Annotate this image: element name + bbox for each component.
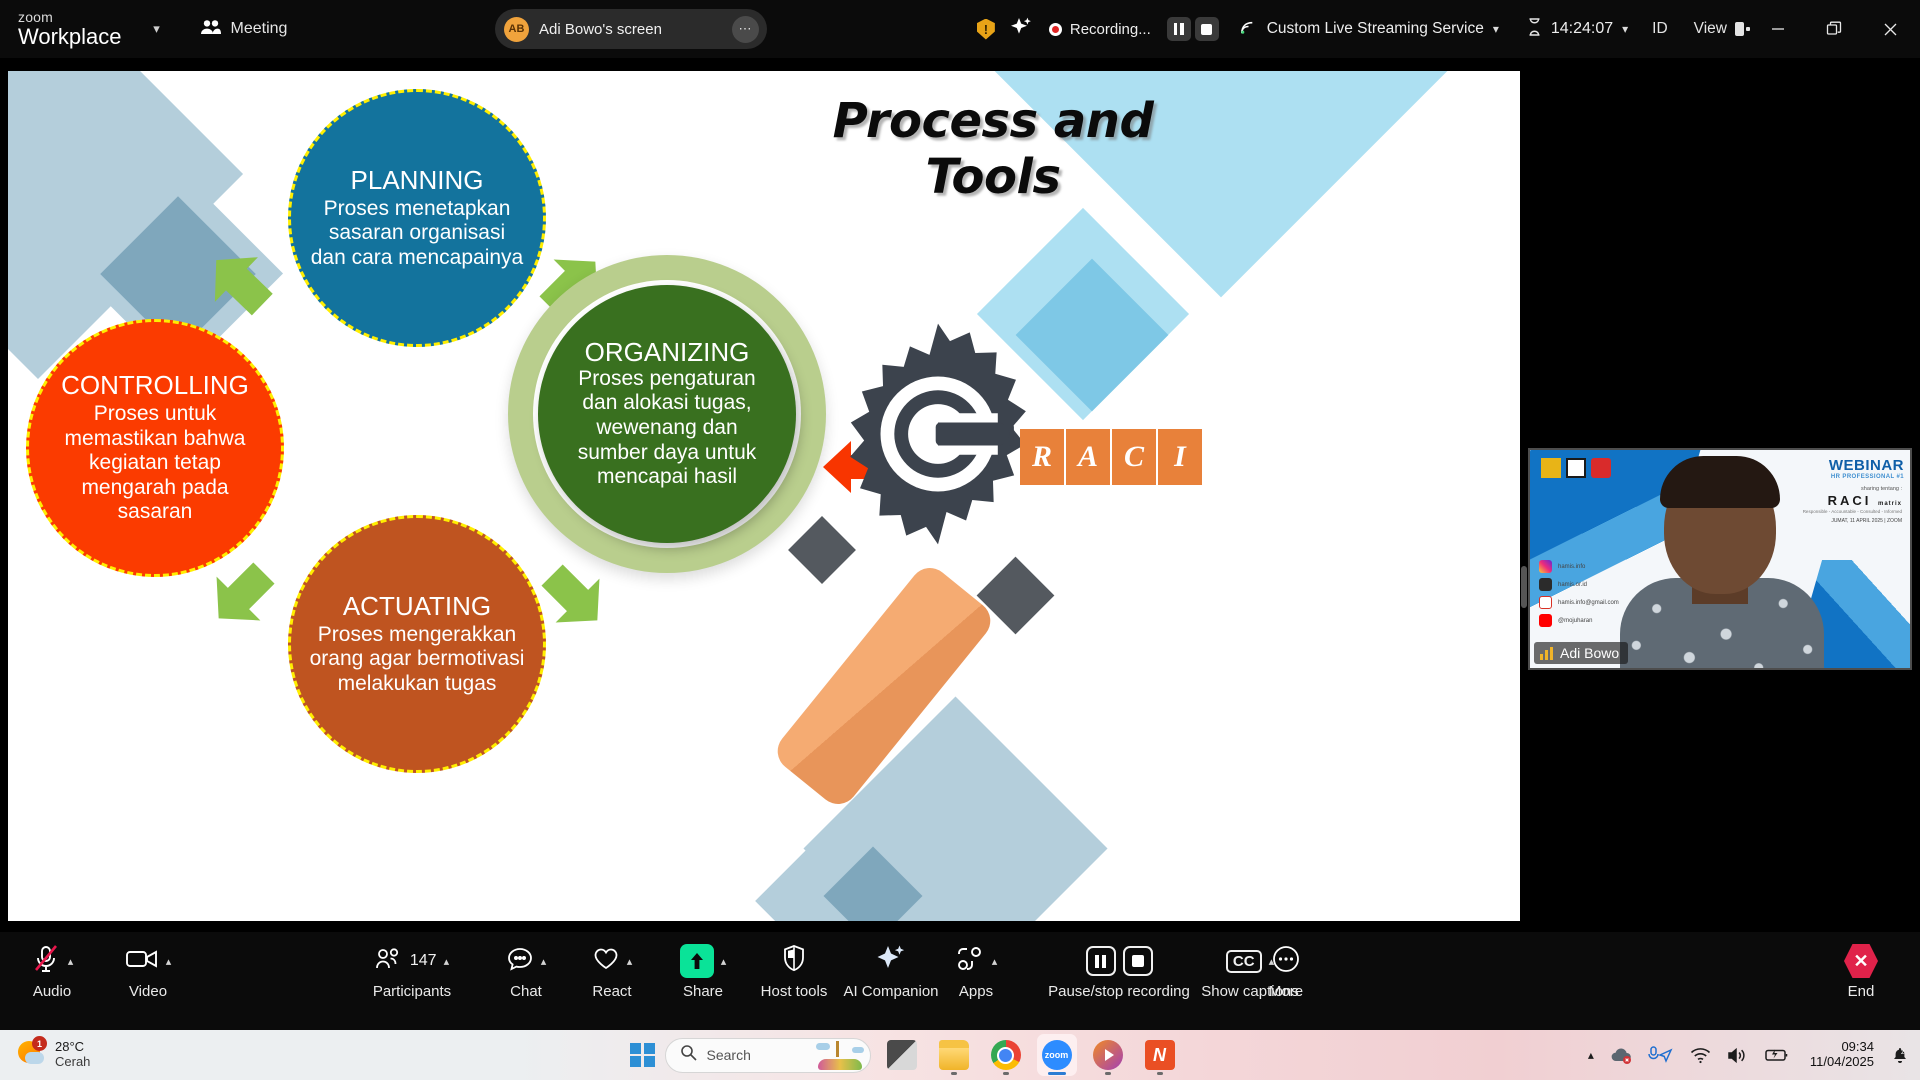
participants-count: 147 xyxy=(410,952,437,970)
microphone-location-icon[interactable] xyxy=(1648,1046,1674,1064)
search-placeholder: Search xyxy=(707,1047,806,1063)
chevron-up-icon[interactable]: ▴ xyxy=(992,955,998,968)
chevron-up-icon[interactable]: ▴ xyxy=(444,955,450,968)
toolbar-apps-button[interactable]: ▴ Apps xyxy=(930,940,1022,1000)
circle-heading: ORGANIZING xyxy=(585,338,750,367)
people-icon xyxy=(375,947,403,976)
scrollbar-handle[interactable] xyxy=(1521,566,1527,608)
zoom-bottom-toolbar: ▴ Audio ▴ Video 147 ▴ Participants xyxy=(0,932,1920,1030)
media-player-icon xyxy=(1093,1040,1123,1070)
weather-temperature: 28°C xyxy=(55,1040,90,1055)
stop-recording-button[interactable] xyxy=(1195,17,1219,41)
chevron-down-icon[interactable]: ▾ xyxy=(144,16,170,42)
toolbar-host-tools-button[interactable]: Host tools xyxy=(748,940,840,1000)
meeting-id-button[interactable]: ID xyxy=(1652,20,1668,38)
windows-start-icon[interactable] xyxy=(630,1043,655,1068)
live-stream-icon xyxy=(1239,17,1258,41)
battery-charging-icon[interactable] xyxy=(1764,1047,1790,1063)
chevron-up-icon[interactable]: ▴ xyxy=(1588,1048,1594,1062)
svg-text:z: z xyxy=(1901,1049,1905,1056)
chevron-down-icon[interactable]: ▾ xyxy=(1493,22,1499,36)
active-indicator xyxy=(1048,1072,1066,1076)
ellipsis-icon[interactable]: ⋯ xyxy=(732,16,759,43)
recording-status: Recording... xyxy=(1049,21,1151,38)
restore-icon[interactable] xyxy=(1806,0,1862,58)
heart-icon xyxy=(592,946,620,977)
toolbar-label: Share xyxy=(683,983,723,1000)
toolbar-chat-button[interactable]: ▴ Chat xyxy=(480,940,572,1000)
toolbar-label: More xyxy=(1269,983,1303,1000)
share-screen-icon xyxy=(680,944,714,978)
weather-condition: Cerah xyxy=(55,1055,90,1070)
taskbar-app-task-view[interactable] xyxy=(881,1034,923,1076)
raci-letter: C xyxy=(1112,429,1156,485)
search-input[interactable]: Search xyxy=(665,1038,871,1073)
notification-bell-dnd-icon[interactable]: z xyxy=(1890,1045,1910,1065)
circle-body: Proses pengaturan dan alokasi tugas, wew… xyxy=(562,367,772,490)
live-streaming-status[interactable]: Custom Live Streaming Service ▾ xyxy=(1239,17,1499,41)
participant-video-tile[interactable]: WEBINAR HR PROFESSIONAL #1 sharing tenta… xyxy=(1528,448,1912,670)
chevron-up-icon[interactable]: ▴ xyxy=(166,955,172,968)
zoom-icon: zoom xyxy=(1042,1040,1072,1070)
shared-screen-pill[interactable]: AB Adi Bowo's screen ⋯ xyxy=(495,9,767,49)
system-tray: ▴ xyxy=(1588,1030,1910,1080)
taskbar-app-nitro[interactable]: N xyxy=(1139,1034,1181,1076)
nitro-pdf-icon: N xyxy=(1145,1040,1175,1070)
end-call-icon: ✕ xyxy=(1844,944,1878,978)
view-button-label: View xyxy=(1694,20,1727,38)
circle-body: Proses untuk memastikan bahwa kegiatan t… xyxy=(47,402,263,525)
diagram-circle-planning: PLANNING Proses menetapkan sasaran organ… xyxy=(288,89,546,347)
shared-screen-stage: Process and Tools PLANNING Proses menet xyxy=(0,58,1920,932)
notification-badge: 1 xyxy=(32,1036,47,1051)
meeting-tab[interactable]: Meeting xyxy=(200,19,288,40)
security-shield-icon[interactable]: ! xyxy=(977,19,995,40)
people-icon xyxy=(200,19,222,40)
taskbar-app-explorer[interactable] xyxy=(933,1034,975,1076)
raci-letter: A xyxy=(1066,429,1110,485)
toolbar-label: Apps xyxy=(959,983,993,1000)
task-view-icon xyxy=(887,1040,917,1070)
top-bar-right-cluster: ! Recording... Custom Live Stream xyxy=(977,0,1920,58)
meeting-timer-value: 14:24:07 xyxy=(1551,20,1613,38)
live-stream-label: Custom Live Streaming Service xyxy=(1267,20,1484,38)
sun-cloud-icon: 1 xyxy=(18,1041,46,1069)
video-tile-border xyxy=(1528,448,1912,670)
circle-heading: PLANNING xyxy=(351,166,484,195)
chrome-icon xyxy=(991,1040,1021,1070)
chevron-up-icon[interactable]: ▴ xyxy=(721,955,727,968)
stop-icon xyxy=(1201,24,1212,35)
zoom-brand-line2: Workplace xyxy=(18,25,122,48)
search-icon xyxy=(680,1044,697,1066)
page-title: Process and Tools xyxy=(768,93,1218,205)
toolbar-label: Video xyxy=(129,983,167,1000)
chevron-up-icon[interactable]: ▴ xyxy=(627,955,633,968)
clock-date: 11/04/2025 xyxy=(1810,1055,1874,1070)
windows-taskbar: 1 28°C Cerah Search xyxy=(0,1030,1920,1080)
toolbar-participants-button[interactable]: 147 ▴ Participants xyxy=(366,940,458,1000)
ellipsis-icon xyxy=(1271,944,1301,979)
zoom-top-bar: zoom Workplace ▾ Meeting AB Adi Bowo's s… xyxy=(0,0,1920,58)
running-indicator xyxy=(951,1072,957,1075)
chevron-up-icon[interactable]: ▴ xyxy=(68,955,74,968)
avatar: AB xyxy=(504,17,529,42)
toolbar-react-button[interactable]: ▴ React xyxy=(566,940,658,1000)
toolbar-label: AI Companion xyxy=(843,983,938,1000)
diagram-circle-organizing: ORGANIZING Proses pengaturan dan alokasi… xyxy=(538,285,796,543)
layout-icon xyxy=(1735,22,1750,36)
toolbar-video-button[interactable]: ▴ Video xyxy=(102,940,194,1000)
volume-icon[interactable] xyxy=(1727,1047,1748,1064)
circle-heading: ACTUATING xyxy=(343,592,491,621)
taskbar-app-media-player[interactable] xyxy=(1087,1034,1129,1076)
microphone-muted-icon xyxy=(31,943,61,980)
zoom-brand-line1: zoom xyxy=(18,10,122,25)
raci-letter: R xyxy=(1020,429,1064,485)
pause-recording-button[interactable] xyxy=(1167,17,1191,41)
shared-screen-label: Adi Bowo's screen xyxy=(539,21,722,38)
taskbar-app-zoom[interactable]: zoom xyxy=(1037,1034,1077,1076)
file-explorer-icon xyxy=(939,1040,969,1070)
ai-sparkle-icon xyxy=(875,944,907,979)
view-button[interactable]: View xyxy=(1694,20,1750,38)
wifi-icon[interactable] xyxy=(1690,1047,1711,1064)
recording-dot-icon xyxy=(1049,23,1062,36)
presentation-slide: Process and Tools PLANNING Proses menet xyxy=(8,71,1520,921)
chat-bubble-icon xyxy=(506,946,534,977)
clock-time: 09:34 xyxy=(1810,1040,1874,1055)
toolbar-label: Audio xyxy=(33,983,71,1000)
circle-body: Proses mengerakkan orang agar bermotivas… xyxy=(309,623,525,697)
recording-label: Recording... xyxy=(1070,21,1151,38)
taskbar-app-chrome[interactable] xyxy=(985,1034,1027,1076)
circle-body: Proses menetapkan sasaran organisasi dan… xyxy=(309,197,525,271)
meeting-timer[interactable]: 14:24:07 ▾ xyxy=(1527,18,1628,41)
taskbar-clock[interactable]: 09:34 11/04/2025 xyxy=(1810,1040,1874,1070)
raci-letter: I xyxy=(1158,429,1202,485)
taskbar-center-cluster: Search zoom N xyxy=(630,1030,1181,1080)
meeting-tab-label: Meeting xyxy=(231,20,288,38)
hourglass-icon xyxy=(1527,18,1542,41)
running-indicator xyxy=(1003,1072,1009,1075)
pause-recording-icon[interactable] xyxy=(1086,946,1116,976)
close-icon[interactable] xyxy=(1862,0,1918,58)
diagram-circle-controlling: CONTROLLING Proses untuk memastikan bahw… xyxy=(26,319,284,577)
toolbar-label: Participants xyxy=(373,983,451,1000)
toolbar-end-button[interactable]: ✕ End xyxy=(1815,940,1907,1000)
diagram-circle-actuating: ACTUATING Proses mengerakkan orang agar … xyxy=(288,515,546,773)
chevron-up-icon[interactable]: ▴ xyxy=(541,955,547,968)
apps-icon xyxy=(955,946,985,977)
toolbar-label: End xyxy=(1848,983,1875,1000)
running-indicator xyxy=(1157,1072,1163,1075)
circle-heading: CONTROLLING xyxy=(61,371,249,400)
toolbar-share-button[interactable]: ▴ Share xyxy=(657,940,749,1000)
shield-icon xyxy=(781,944,807,979)
raci-letter-boxes: R A C I xyxy=(1020,429,1202,485)
toolbar-label: Chat xyxy=(510,983,542,1000)
minimize-icon[interactable] xyxy=(1750,0,1806,58)
zoom-brand: zoom Workplace xyxy=(18,10,122,48)
taskbar-weather-widget[interactable]: 1 28°C Cerah xyxy=(18,1040,90,1070)
pause-icon xyxy=(1174,23,1184,35)
camera-icon xyxy=(125,947,159,976)
toolbar-label: React xyxy=(592,983,631,1000)
running-indicator xyxy=(1105,1072,1111,1075)
search-illustration xyxy=(816,1039,864,1072)
ai-sparkle-icon[interactable] xyxy=(1009,15,1033,44)
toolbar-more-button[interactable]: More xyxy=(1240,940,1332,1000)
toolbar-label: Host tools xyxy=(761,983,828,1000)
onedrive-offline-icon[interactable] xyxy=(1610,1047,1632,1064)
chevron-down-icon[interactable]: ▾ xyxy=(1622,22,1628,36)
toolbar-audio-button[interactable]: ▴ Audio xyxy=(6,940,98,1000)
